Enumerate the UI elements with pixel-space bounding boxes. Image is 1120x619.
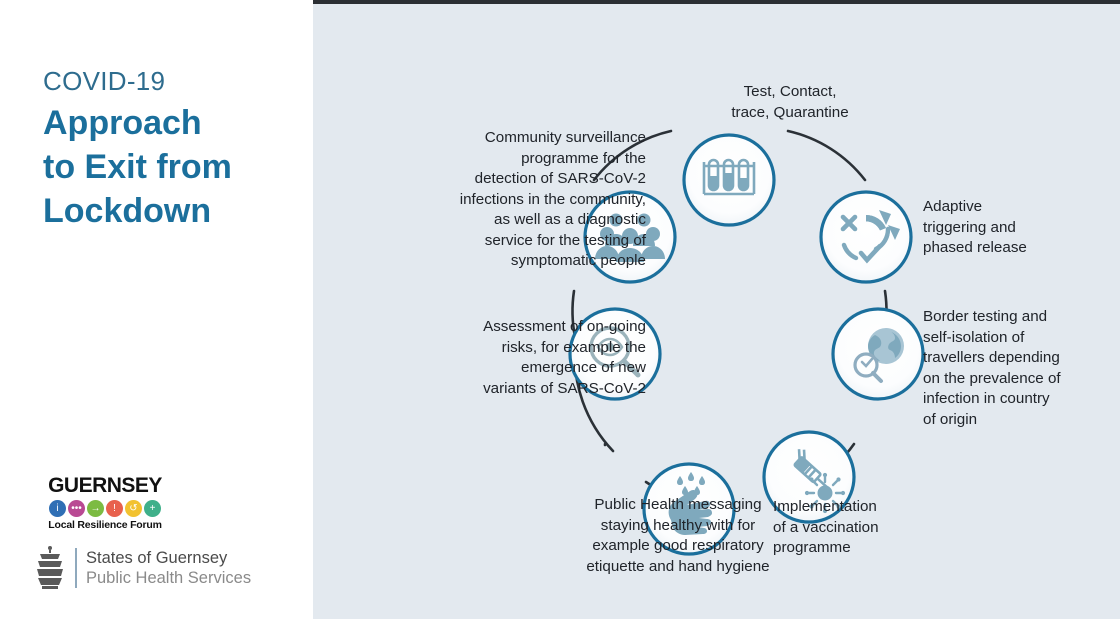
label-line: triggering and <box>923 218 1113 239</box>
label-line: service for the testing of <box>378 231 646 252</box>
label-line: of origin <box>923 410 1120 431</box>
lrf-dot-people-icon: ••• <box>68 500 85 517</box>
lrf-logo-title: GUERNSEY <box>45 475 165 497</box>
lrf-dot-alert-icon: ! <box>106 500 123 517</box>
label-line: on the prevalence of <box>923 369 1120 390</box>
label-line: symptomatic people <box>378 251 646 272</box>
node-border-testing[interactable] <box>833 309 923 399</box>
label-test-contact-trace: Test, Contact, trace, Quarantine <box>665 82 915 123</box>
states-of-guernsey-line-1: States of Guernsey <box>86 548 251 568</box>
node-adaptive-triggering[interactable] <box>821 192 911 282</box>
lrf-dot-arrow-icon: → <box>87 500 104 517</box>
page-title-line-2: to Exit from <box>43 145 293 189</box>
label-line: travellers depending <box>923 348 1120 369</box>
label-adaptive-triggering: Adaptive triggering and phased release <box>923 197 1113 259</box>
page-title-line-1: Approach <box>43 101 293 145</box>
label-line: variants of SARS-CoV-2 <box>363 379 646 400</box>
label-line: infections in the community, <box>378 190 646 211</box>
label-line: Implementation <box>773 497 973 518</box>
label-line: trace, Quarantine <box>665 103 915 124</box>
kicker-label: COVID-19 <box>43 66 165 97</box>
label-line: programme <box>773 538 973 559</box>
label-line: Test, Contact, <box>665 82 915 103</box>
label-vaccination-programme: Implementation of a vaccination programm… <box>773 497 973 559</box>
states-of-guernsey-text: States of Guernsey Public Health Service… <box>86 548 251 588</box>
page-title-line-3: Lockdown <box>43 189 293 233</box>
left-title-column: COVID-19 Approach to Exit from Lockdown … <box>0 0 313 619</box>
label-line: self-isolation of <box>923 328 1120 349</box>
label-line: risks, for example the <box>363 338 646 359</box>
slide-root: SLIDE 6 COVID-19 Approach to Exit from L… <box>0 0 1120 619</box>
states-of-guernsey-logo: States of Guernsey Public Health Service… <box>34 545 251 591</box>
label-line: Assessment of on-going <box>363 317 646 338</box>
label-line: as well as a diagnostic <box>378 210 646 231</box>
label-border-testing: Border testing and self-isolation of tra… <box>923 307 1120 430</box>
states-of-guernsey-line-2: Public Health Services <box>86 568 251 588</box>
label-line: detection of SARS-CoV-2 <box>378 169 646 190</box>
label-line: infection in country <box>923 389 1120 410</box>
label-line: Border testing and <box>923 307 1120 328</box>
label-line: programme for the <box>378 149 646 170</box>
logo-divider <box>75 548 77 588</box>
guernsey-crest-icon <box>34 545 66 591</box>
lrf-logo-subtitle: Local Resilience Forum <box>45 519 165 531</box>
label-risk-assessment: Assessment of on-going risks, for exampl… <box>363 317 646 399</box>
lrf-dot-recovery-icon: ↺ <box>125 500 142 517</box>
label-line: Community surveillance <box>378 128 646 149</box>
node-test-contact-trace[interactable] <box>684 135 774 225</box>
lrf-dot-info-icon: i <box>49 500 66 517</box>
lrf-dot-plus-icon: + <box>144 500 161 517</box>
page-title: Approach to Exit from Lockdown <box>43 101 293 233</box>
label-line: Adaptive <box>923 197 1113 218</box>
label-line: of a vaccination <box>773 518 973 539</box>
label-community-surveillance: Community surveillance programme for the… <box>378 128 646 272</box>
guernsey-local-resilience-forum-logo: GUERNSEY i ••• → ! ↺ + Local Resilience … <box>45 475 165 531</box>
label-line: emergence of new <box>363 358 646 379</box>
lrf-logo-dots: i ••• → ! ↺ + <box>45 500 165 517</box>
diagram-panel: Test, Contact, trace, Quarantine Communi… <box>313 4 1120 619</box>
label-line: etiquette and hand hygiene <box>518 557 838 578</box>
label-line: phased release <box>923 238 1113 259</box>
